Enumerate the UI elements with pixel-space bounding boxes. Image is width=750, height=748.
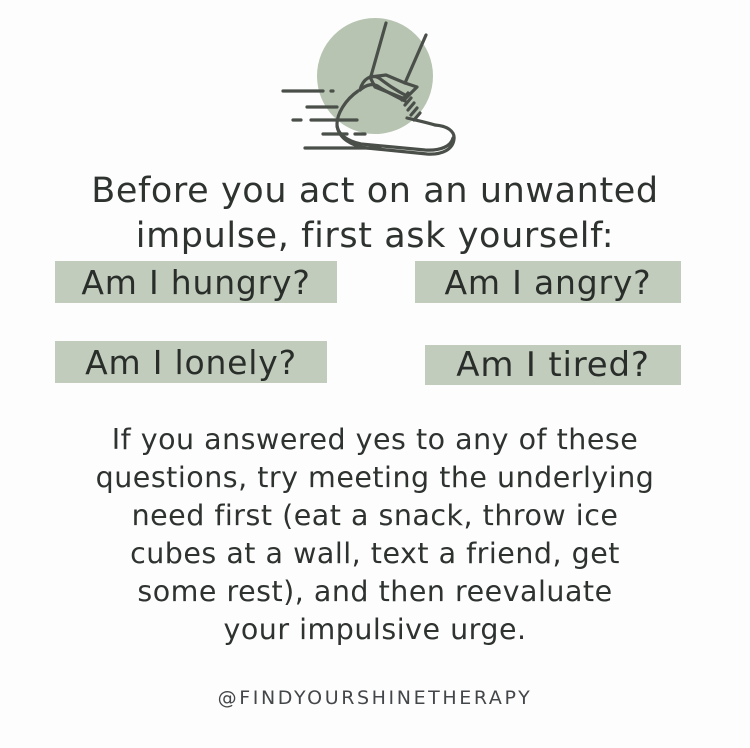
page-title: Before you act on an unwanted impulse, f… <box>25 169 725 259</box>
question-hungry: Am I hungry? <box>55 261 337 303</box>
question-tired: Am I tired? <box>425 345 681 385</box>
body-line-4: cubes at a wall, text a friend, get <box>25 535 725 573</box>
body-line-1: If you answered yes to any of these <box>25 421 725 459</box>
body-line-3: need first (eat a snack, throw ice <box>25 497 725 535</box>
body-line-2: questions, try meeting the underlying <box>25 459 725 497</box>
infographic-card: Before you act on an unwanted impulse, f… <box>0 0 750 748</box>
headline-line-1: Before you act on an unwanted <box>25 169 725 214</box>
question-lonely: Am I lonely? <box>55 341 327 383</box>
running-shoe-in-motion-icon <box>275 8 475 163</box>
question-angry: Am I angry? <box>415 261 681 303</box>
body-line-6: your impulsive urge. <box>25 611 725 649</box>
account-handle: @FINDYOURSHINETHERAPY <box>218 687 533 709</box>
body-copy: If you answered yes to any of these ques… <box>25 421 725 649</box>
illustration-container <box>275 8 475 163</box>
body-line-5: some rest), and then reevaluate <box>25 573 725 611</box>
headline-line-2: impulse, first ask yourself: <box>25 214 725 259</box>
question-row-1: Am I hungry? Am I angry? <box>25 259 725 339</box>
question-row-2: Am I lonely? Am I tired? <box>25 339 725 419</box>
